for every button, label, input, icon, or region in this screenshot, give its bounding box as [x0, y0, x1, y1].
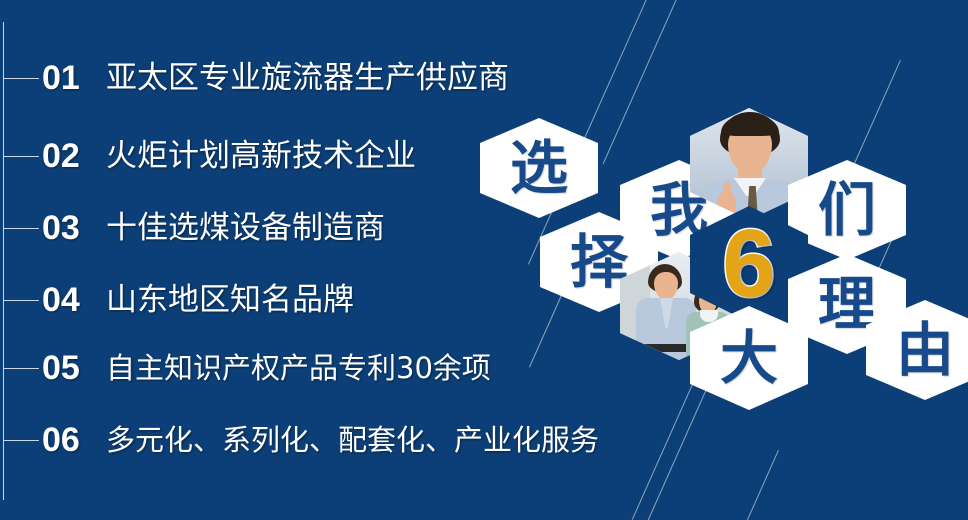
list-item: 02 火炬计划高新技术企业	[42, 133, 416, 179]
hex-xuan: 选	[480, 118, 598, 218]
list-item-text: 山东地区知名品牌	[106, 285, 354, 316]
list-item-text: 十佳选煤设备制造商	[106, 213, 385, 244]
list-item: 04 山东地区知名品牌	[42, 277, 354, 323]
list-item-number: 02	[42, 139, 98, 173]
list-item: 01 亚太区专业旋流器生产供应商	[42, 55, 509, 101]
list-item-text: 自主知识产权产品专利30余项	[106, 354, 491, 383]
list-item: 05 自主知识产权产品专利30余项	[42, 345, 491, 391]
hex-label: 6	[722, 216, 775, 312]
list-item-number: 01	[42, 61, 98, 95]
hex-label: 选	[510, 139, 568, 197]
hex-label: 们	[818, 181, 876, 239]
hex-label: 由	[896, 321, 954, 379]
hex-label: 择	[570, 233, 628, 291]
list-item-number: 03	[42, 211, 98, 245]
list-item: 03 十佳选煤设备制造商	[42, 205, 385, 251]
list-item-text: 亚太区专业旋流器生产供应商	[106, 63, 509, 94]
list-item-number: 04	[42, 283, 98, 317]
list-item-number: 06	[42, 423, 98, 457]
list-item-text: 火炬计划高新技术企业	[106, 141, 416, 172]
hex-label: 大	[720, 329, 778, 387]
banner-canvas: 01 亚太区专业旋流器生产供应商 02 火炬计划高新技术企业 03 十佳选煤设备…	[0, 0, 968, 520]
headline-hex-cluster: 选 择 我 们	[468, 0, 968, 520]
hex-label: 理	[818, 275, 876, 333]
list-item-number: 05	[42, 351, 98, 385]
